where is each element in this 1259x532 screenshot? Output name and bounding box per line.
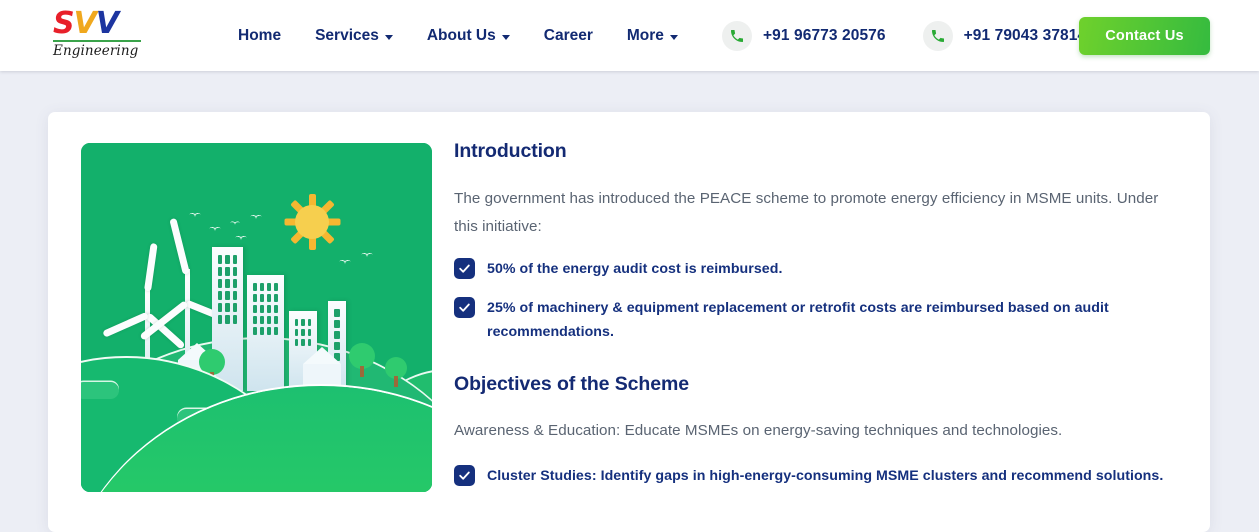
logo-letter-v2: V [96,9,118,39]
nav-item-more[interactable]: More [627,27,678,45]
nav-item-home[interactable]: Home [238,27,281,45]
nav-label: More [627,27,664,45]
content-card: Introduction The government has introduc… [48,112,1210,532]
building-mid [247,275,284,391]
checklist-text: 50% of the energy audit cost is reimburs… [487,257,782,281]
section-title-objectives: Objectives of the Scheme [454,373,1179,396]
chevron-down-icon [670,35,678,40]
tree-icon [349,343,375,377]
scheme-content: Introduction The government has introduc… [454,140,1179,503]
logo-letters: S V V [53,9,145,39]
logo-subtitle: Engineering [53,43,145,59]
contact-us-button[interactable]: Contact Us [1079,17,1210,55]
nav-item-services[interactable]: Services [315,27,393,45]
nav-item-about-us[interactable]: About Us [427,27,510,45]
site-header: S V V Engineering Home Services About Us… [0,0,1259,71]
checklist-text: 25% of machinery & equipment replacement… [487,296,1179,344]
header-phone-numbers: +91 96773 20576 +91 79043 37814 [722,0,1086,71]
check-icon [454,258,475,279]
phone-number: +91 96773 20576 [763,27,886,45]
phone-link-2[interactable]: +91 79043 37814 [923,21,1087,51]
phone-link-1[interactable]: +91 96773 20576 [722,21,886,51]
green-energy-illustration [81,143,432,492]
chevron-down-icon [502,35,510,40]
cloud-icon [81,382,119,399]
nav-label: Career [544,27,593,45]
tree-icon [385,357,407,387]
main-navigation: Home Services About Us Career More [238,0,678,71]
checklist-item: 50% of the energy audit cost is reimburs… [454,257,1179,281]
phone-icon [923,21,953,51]
checklist-item: Cluster Studies: Identify gaps in high-e… [454,464,1179,488]
section-objectives: Objectives of the Scheme Awareness & Edu… [454,373,1179,488]
section-title-introduction: Introduction [454,140,1179,163]
checklist-text: Cluster Studies: Identify gaps in high-e… [487,464,1163,488]
section-paragraph-introduction: The government has introduced the PEACE … [454,185,1179,241]
nav-label: Services [315,27,379,45]
logo-letter-v1: V [74,9,96,39]
check-icon [454,465,475,486]
section-introduction: Introduction The government has introduc… [454,140,1179,344]
phone-number: +91 79043 37814 [964,27,1087,45]
site-logo[interactable]: S V V Engineering [53,9,145,59]
check-icon [454,297,475,318]
nav-item-career[interactable]: Career [544,27,593,45]
nav-label: About Us [427,27,496,45]
logo-letter-s: S [53,9,74,39]
nav-label: Home [238,27,281,45]
chevron-down-icon [385,35,393,40]
checklist-item: 25% of machinery & equipment replacement… [454,296,1179,344]
section-paragraph-objectives: Awareness & Education: Educate MSMEs on … [454,417,1179,445]
phone-icon [722,21,752,51]
